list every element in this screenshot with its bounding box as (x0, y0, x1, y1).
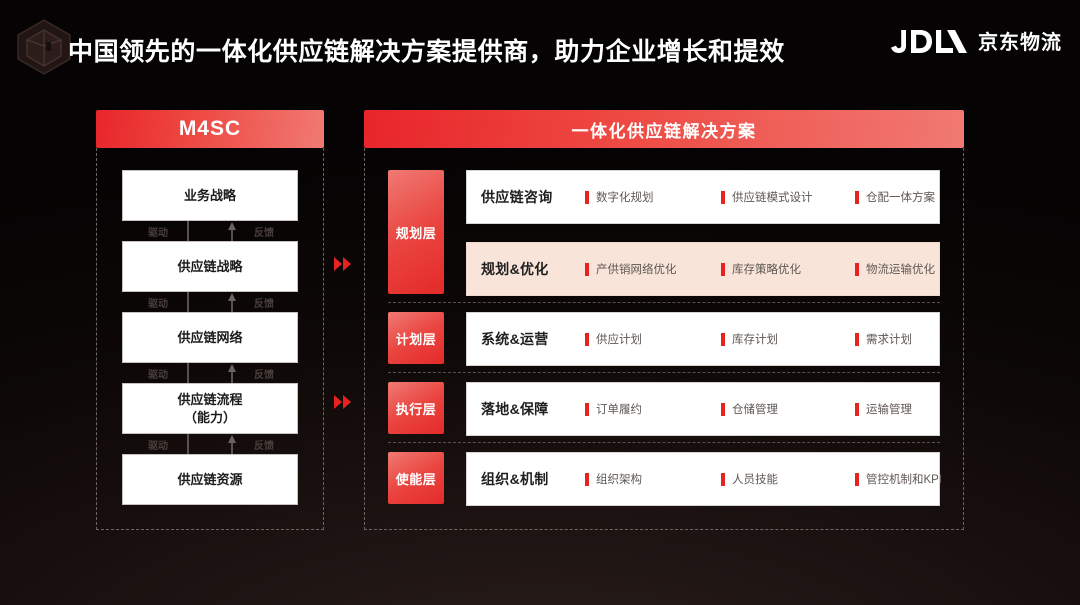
solution-row-1-item-3[interactable]: 仓配一体方案 (855, 189, 935, 205)
connector-1-feedback-label: 反馈 (254, 224, 274, 239)
solution-row-3-item-2[interactable]: 库存计划 (721, 331, 855, 347)
layer-badge-execution[interactable]: 执行层 (388, 382, 444, 434)
solution-row-2-item-1-label: 产供销网络优化 (596, 261, 677, 277)
solution-row-3-item-2-label: 库存计划 (732, 331, 778, 347)
solution-row-2-items: 产供销网络优化 库存策略优化 物流运输优化 (585, 261, 939, 277)
bullet-icon (585, 191, 589, 204)
solution-row-5-item-1-label: 组织架构 (596, 471, 642, 487)
bullet-icon (721, 473, 725, 486)
bullet-icon (855, 403, 859, 416)
page-title: 中国领先的一体化供应链解决方案提供商，助力企业增长和提效 (68, 32, 785, 68)
solution-row-1-item-3-label: 仓配一体方案 (866, 189, 935, 205)
solution-row-2-item-3-label: 物流运输优化 (866, 261, 935, 277)
solution-row-3-item-3[interactable]: 需求计划 (855, 331, 912, 347)
solution-row-4-category: 落地&保障 (481, 399, 585, 419)
solution-row-2[interactable]: 规划&优化 产供销网络优化 库存策略优化 物流运输优化 (466, 242, 940, 296)
m4sc-box-1[interactable]: 业务战略 (122, 170, 298, 221)
double-chevron-right-icon-1 (334, 257, 356, 271)
bullet-icon (721, 333, 725, 346)
solution-row-1[interactable]: 供应链咨询 数字化规划 供应链模式设计 仓配一体方案 (466, 170, 940, 224)
solution-row-4-items: 订单履约 仓储管理 运输管理 (585, 401, 939, 417)
solution-row-1-items: 数字化规划 供应链模式设计 仓配一体方案 (585, 189, 939, 205)
solution-row-2-item-2-label: 库存策略优化 (732, 261, 801, 277)
solution-row-2-item-3[interactable]: 物流运输优化 (855, 261, 935, 277)
m4sc-box-5-line1: 供应链资源 (177, 471, 242, 489)
m4sc-box-3[interactable]: 供应链网络 (122, 312, 298, 363)
bullet-icon (855, 263, 859, 276)
solution-row-3-category: 系统&运营 (481, 329, 585, 349)
solution-row-3-item-3-label: 需求计划 (866, 331, 912, 347)
solution-row-4-item-1[interactable]: 订单履约 (585, 401, 721, 417)
cube-box-icon (16, 18, 72, 76)
bullet-icon (585, 333, 589, 346)
solution-row-4-item-3[interactable]: 运输管理 (855, 401, 912, 417)
connector-1-drive-label: 驱动 (148, 224, 168, 239)
solution-row-4-item-3-label: 运输管理 (866, 401, 912, 417)
m4sc-box-4-line2: （能力） (184, 409, 236, 427)
m4sc-box-2-line1: 供应链战略 (177, 258, 242, 276)
solution-row-4-item-2[interactable]: 仓储管理 (721, 401, 855, 417)
left-panel-title: M4SC (96, 110, 324, 148)
solution-row-5[interactable]: 组织&机制 组织架构 人员技能 管控机制和KPI (466, 452, 940, 506)
m4sc-box-4-line1: 供应链流程 (177, 391, 242, 409)
right-panel-title: 一体化供应链解决方案 (364, 110, 964, 148)
solution-row-2-category: 规划&优化 (481, 259, 585, 279)
m4sc-box-5[interactable]: 供应链资源 (122, 454, 298, 505)
solution-row-5-category: 组织&机制 (481, 469, 585, 489)
solution-row-1-category: 供应链咨询 (481, 187, 585, 207)
solution-row-5-item-3[interactable]: 管控机制和KPI (855, 471, 942, 487)
m4sc-box-1-line1: 业务战略 (184, 187, 236, 205)
layer-badge-planning[interactable]: 规划层 (388, 170, 444, 294)
solution-row-3-item-1-label: 供应计划 (596, 331, 642, 347)
connector-3-drive-label: 驱动 (148, 366, 168, 381)
brand-logo: 京东物流 (887, 26, 1062, 55)
row-separator-2 (388, 372, 940, 373)
solution-row-5-item-2-label: 人员技能 (732, 471, 778, 487)
bullet-icon (855, 333, 859, 346)
bullet-icon (585, 473, 589, 486)
solution-row-5-item-2[interactable]: 人员技能 (721, 471, 855, 487)
bullet-icon (721, 403, 725, 416)
row-separator-1 (388, 302, 940, 303)
bullet-icon (855, 473, 859, 486)
row-separator-3 (388, 442, 940, 443)
bullet-icon (585, 403, 589, 416)
layer-badge-plan[interactable]: 计划层 (388, 312, 444, 364)
bullet-icon (585, 263, 589, 276)
slide-header: 中国领先的一体化供应链解决方案提供商，助力企业增长和提效 京东物流 (0, 0, 1080, 90)
connector-4-feedback-label: 反馈 (254, 437, 274, 452)
brand-name: 京东物流 (978, 26, 1062, 55)
connector-2-feedback-label: 反馈 (254, 295, 274, 310)
solution-row-3[interactable]: 系统&运营 供应计划 库存计划 需求计划 (466, 312, 940, 366)
bullet-icon (855, 191, 859, 204)
solution-row-5-item-1[interactable]: 组织架构 (585, 471, 721, 487)
layer-badge-enablement[interactable]: 使能层 (388, 452, 444, 504)
solution-row-2-item-1[interactable]: 产供销网络优化 (585, 261, 721, 277)
connector-2-drive-label: 驱动 (148, 295, 168, 310)
jdl-logo-icon (887, 27, 969, 55)
solution-row-5-items: 组织架构 人员技能 管控机制和KPI (585, 471, 942, 487)
solution-row-1-item-2-label: 供应链模式设计 (732, 189, 813, 205)
solution-row-2-item-2[interactable]: 库存策略优化 (721, 261, 855, 277)
m4sc-box-2[interactable]: 供应链战略 (122, 241, 298, 292)
double-chevron-right-icon-2 (334, 395, 356, 409)
solution-row-5-item-3-label: 管控机制和KPI (866, 471, 942, 487)
solution-row-1-item-1-label: 数字化规划 (596, 189, 654, 205)
solution-row-3-items: 供应计划 库存计划 需求计划 (585, 331, 939, 347)
m4sc-box-3-line1: 供应链网络 (177, 329, 242, 347)
solution-row-1-item-1[interactable]: 数字化规划 (585, 189, 721, 205)
solution-row-1-item-2[interactable]: 供应链模式设计 (721, 189, 855, 205)
connector-4-drive-label: 驱动 (148, 437, 168, 452)
connector-3-feedback-label: 反馈 (254, 366, 274, 381)
bullet-icon (721, 263, 725, 276)
solution-row-3-item-1[interactable]: 供应计划 (585, 331, 721, 347)
m4sc-box-4[interactable]: 供应链流程 （能力） (122, 383, 298, 434)
bullet-icon (721, 191, 725, 204)
solution-row-4-item-1-label: 订单履约 (596, 401, 642, 417)
solution-row-4[interactable]: 落地&保障 订单履约 仓储管理 运输管理 (466, 382, 940, 436)
solution-row-4-item-2-label: 仓储管理 (732, 401, 778, 417)
slide-canvas: 中国领先的一体化供应链解决方案提供商，助力企业增长和提效 京东物流 M4SC 业… (0, 0, 1080, 605)
